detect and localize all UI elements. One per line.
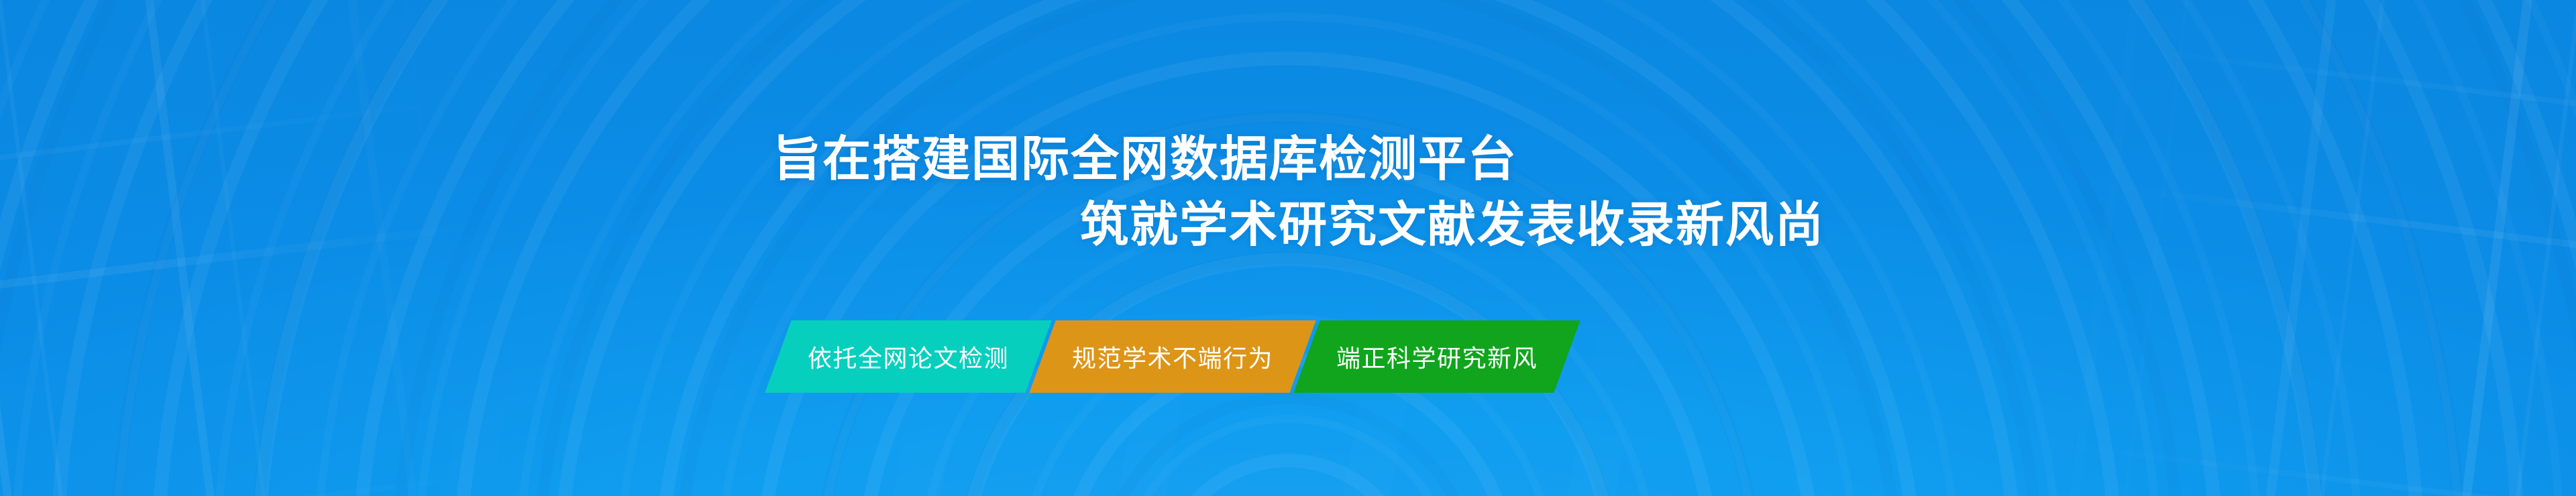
feature-badge-3-label: 端正科学研究新风: [1336, 339, 1538, 374]
feature-badge-3[interactable]: 端正科学研究新风: [1293, 320, 1580, 393]
headline-line-2: 筑就学术研究文献发表收录新风尚: [1080, 201, 1825, 249]
feature-badge-row: 依托全网论文检测 规范学术不端行为 端正科学研究新风: [778, 320, 1567, 393]
feature-badge-2-label: 规范学术不端行为: [1072, 339, 1273, 374]
feature-badge-1-label: 依托全网论文检测: [808, 339, 1009, 374]
banner-content: 旨在搭建国际全网数据库检测平台 筑就学术研究文献发表收录新风尚 依托全网论文检测…: [0, 0, 2576, 496]
feature-badge-1[interactable]: 依托全网论文检测: [765, 320, 1051, 393]
promotional-banner: 旨在搭建国际全网数据库检测平台 筑就学术研究文献发表收录新风尚 依托全网论文检测…: [0, 0, 2576, 496]
feature-badge-2[interactable]: 规范学术不端行为: [1029, 320, 1316, 393]
headline-line-1: 旨在搭建国际全网数据库检测平台: [773, 135, 1517, 184]
